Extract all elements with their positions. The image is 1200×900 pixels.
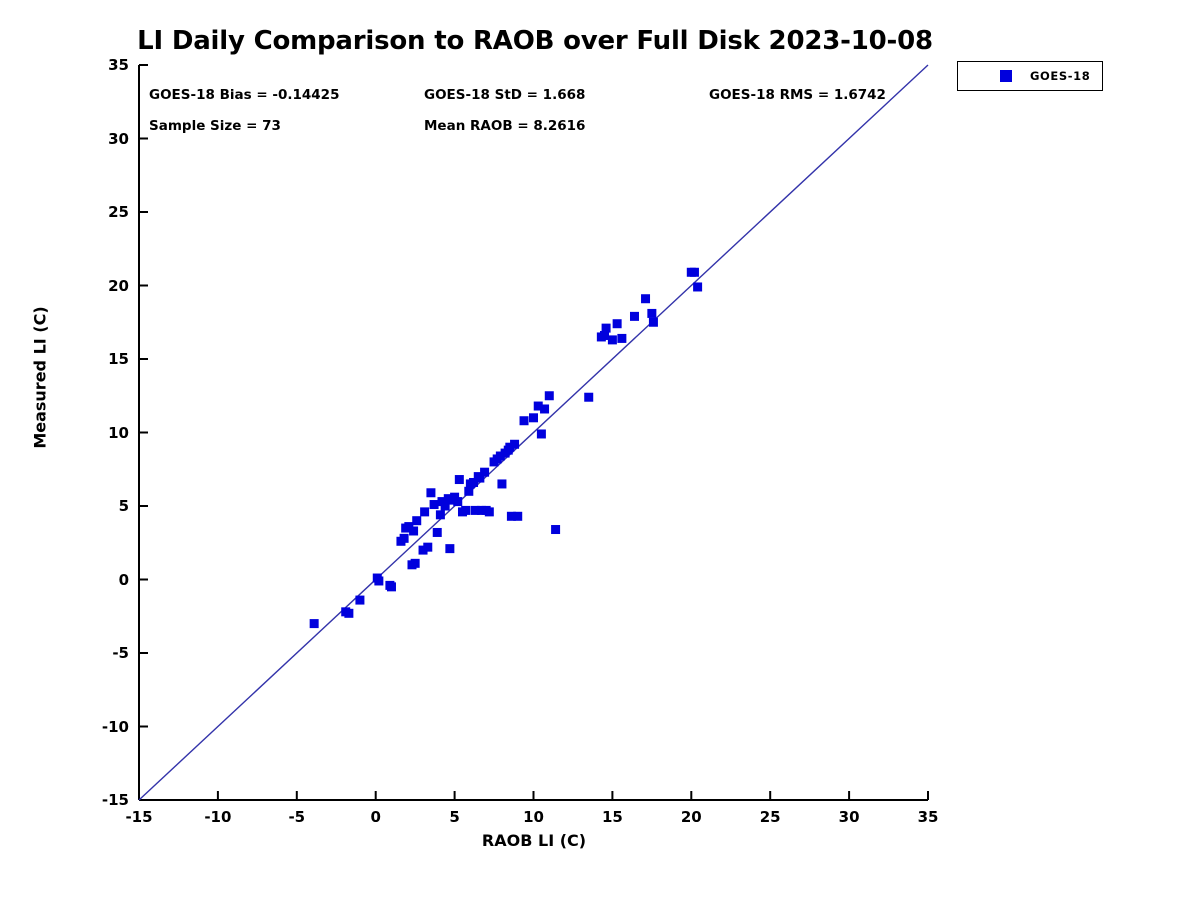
y-tick-label: 35 bbox=[69, 56, 129, 74]
data-point-marker bbox=[690, 268, 699, 277]
data-point-marker bbox=[355, 596, 364, 605]
data-point-marker bbox=[617, 334, 626, 343]
x-tick-label: 10 bbox=[504, 808, 564, 826]
x-tick-label: 30 bbox=[819, 808, 879, 826]
data-point-marker bbox=[310, 619, 319, 628]
data-point-marker bbox=[602, 324, 611, 333]
y-tick-label: 15 bbox=[69, 350, 129, 368]
data-point-marker bbox=[529, 413, 538, 422]
data-point-marker bbox=[641, 294, 650, 303]
x-tick-label: 35 bbox=[898, 808, 958, 826]
plot-canvas bbox=[0, 0, 1200, 900]
data-point-marker bbox=[423, 543, 432, 552]
x-axis-title: RAOB LI (C) bbox=[139, 831, 929, 850]
x-tick-label: 25 bbox=[740, 808, 800, 826]
data-point-marker bbox=[520, 416, 529, 425]
legend-label-goes-18: GOES-18 bbox=[1030, 69, 1090, 83]
data-point-marker bbox=[510, 440, 519, 449]
y-tick-label: 25 bbox=[69, 203, 129, 221]
legend-swatch-goes-18 bbox=[1000, 70, 1012, 82]
data-point-marker bbox=[480, 468, 489, 477]
data-point-marker bbox=[630, 312, 639, 321]
y-tick-label: 10 bbox=[69, 424, 129, 442]
data-point-marker bbox=[461, 506, 470, 515]
data-point-marker bbox=[412, 516, 421, 525]
x-tick-label: -5 bbox=[267, 808, 327, 826]
y-axis-title: Measured LI (C) bbox=[31, 278, 50, 478]
data-points-group bbox=[310, 268, 702, 628]
one-to-one-reference-line bbox=[139, 65, 928, 800]
data-point-marker bbox=[613, 319, 622, 328]
data-point-marker bbox=[551, 525, 560, 534]
y-tick-label: 0 bbox=[69, 571, 129, 589]
data-point-marker bbox=[608, 335, 617, 344]
scatter-chart-figure: LI Daily Comparison to RAOB over Full Di… bbox=[0, 0, 1200, 900]
data-point-marker bbox=[445, 544, 454, 553]
data-point-marker bbox=[693, 282, 702, 291]
data-point-marker bbox=[545, 391, 554, 400]
data-point-marker bbox=[430, 500, 439, 509]
data-point-marker bbox=[485, 507, 494, 516]
reference-line bbox=[139, 65, 928, 800]
data-point-marker bbox=[387, 582, 396, 591]
data-point-marker bbox=[426, 488, 435, 497]
x-tick-label: 0 bbox=[346, 808, 406, 826]
data-point-marker bbox=[409, 526, 418, 535]
data-point-marker bbox=[436, 510, 445, 519]
data-point-marker bbox=[400, 534, 409, 543]
data-point-marker bbox=[540, 404, 549, 413]
data-point-marker bbox=[455, 475, 464, 484]
data-point-marker bbox=[497, 479, 506, 488]
data-point-marker bbox=[411, 559, 420, 568]
x-tick-label: -15 bbox=[109, 808, 169, 826]
data-point-marker bbox=[344, 609, 353, 618]
x-tick-label: 20 bbox=[661, 808, 721, 826]
data-point-marker bbox=[513, 512, 522, 521]
data-point-marker bbox=[647, 309, 656, 318]
x-tick-label: 15 bbox=[582, 808, 642, 826]
data-point-marker bbox=[649, 318, 658, 327]
data-point-marker bbox=[453, 497, 462, 506]
y-tick-label: -10 bbox=[69, 718, 129, 736]
data-point-marker bbox=[374, 576, 383, 585]
y-tick-label: -15 bbox=[69, 791, 129, 809]
data-point-marker bbox=[433, 528, 442, 537]
x-tick-label: 5 bbox=[425, 808, 485, 826]
x-tick-label: -10 bbox=[188, 808, 248, 826]
y-tick-label: 30 bbox=[69, 130, 129, 148]
y-tick-label: 5 bbox=[69, 497, 129, 515]
data-point-marker bbox=[420, 507, 429, 516]
data-point-marker bbox=[537, 429, 546, 438]
y-tick-label: 20 bbox=[69, 277, 129, 295]
y-tick-label: -5 bbox=[69, 644, 129, 662]
data-point-marker bbox=[584, 393, 593, 402]
